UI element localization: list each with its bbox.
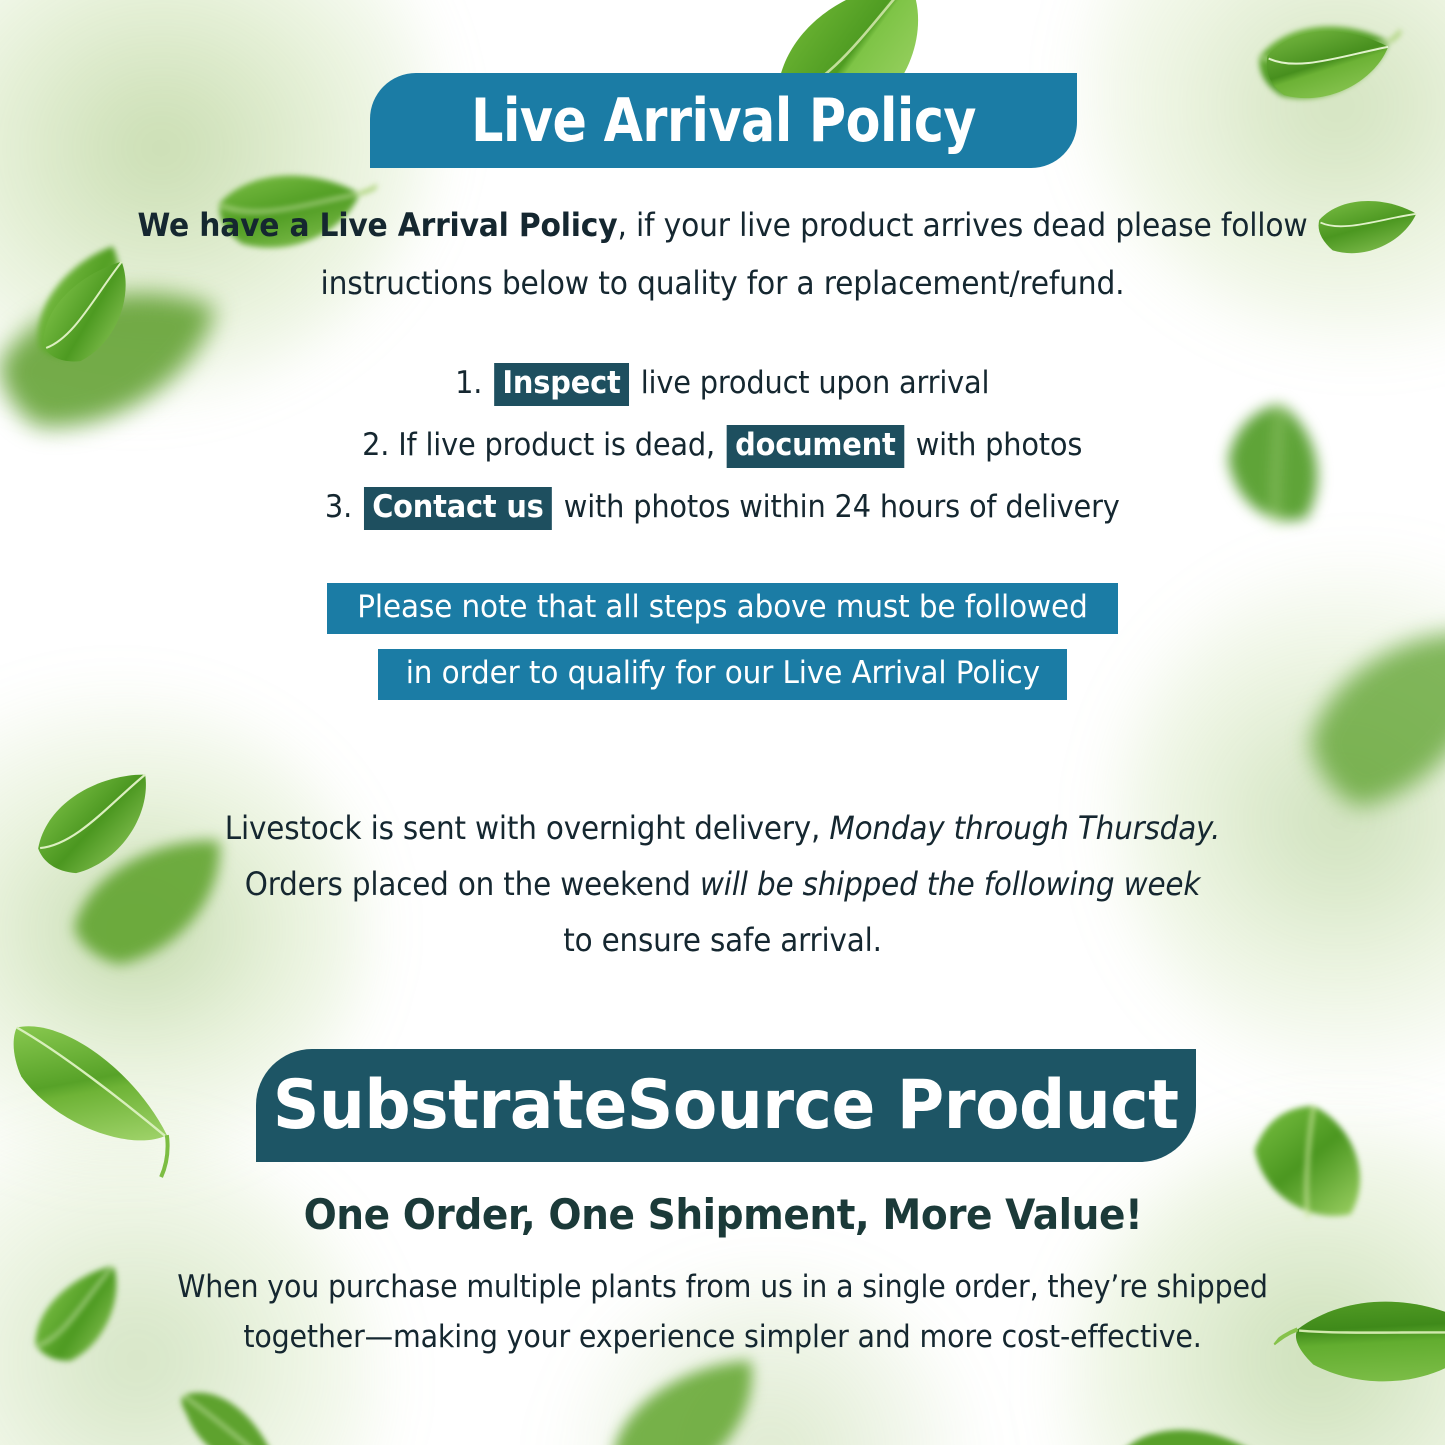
step-2-number: 2. (362, 427, 389, 463)
note-line-1-text: Please note that all steps above must be… (357, 587, 1087, 628)
shipping-line-1: Livestock is sent with overnight deliver… (58, 800, 1387, 856)
live-arrival-intro-paragraph: We have a Live Arrival Policy, if your l… (0, 196, 1445, 312)
closing-line-2: together—making your experience simpler … (58, 1312, 1387, 1362)
step-3-number: 3. (325, 489, 352, 525)
substrate-source-tagline-text: One Order, One Shipment, More Value! (303, 1190, 1142, 1239)
list-item: 1. Inspect live product upon arrival (0, 352, 1445, 414)
intro-line-1-bold: We have a Live Arrival Policy (137, 206, 617, 244)
step-1-number: 1. (455, 365, 482, 401)
live-arrival-policy-banner: Live Arrival Policy (370, 73, 1077, 168)
substrate-source-body-paragraph: When you purchase multiple plants from u… (0, 1262, 1445, 1362)
shipping-line-2-a: Orders placed on the weekend (245, 865, 700, 903)
policy-note-block: Please note that all steps above must be… (0, 583, 1445, 715)
list-item: 2. If live product is dead, document wit… (0, 414, 1445, 476)
livestock-shipping-paragraph: Livestock is sent with overnight deliver… (0, 800, 1445, 968)
step-1-text: live product upon arrival (641, 365, 990, 401)
shipping-line-1-a: Livestock is sent with overnight deliver… (225, 809, 830, 847)
step-1-chip-inspect[interactable]: Inspect (494, 363, 629, 406)
step-3-chip-contact-us[interactable]: Contact us (364, 487, 552, 530)
policy-infographic: Live Arrival Policy We have a Live Arriv… (0, 0, 1445, 1445)
live-arrival-steps-list: 1. Inspect live product upon arrival 2. … (0, 352, 1445, 538)
note-line-2-text: in order to qualify for our Live Arrival… (405, 653, 1039, 694)
note-line-1: Please note that all steps above must be… (327, 583, 1118, 634)
step-2-text: with photos (916, 427, 1082, 463)
step-2-pre: If live product is dead, (399, 427, 716, 463)
shipping-line-2: Orders placed on the weekend will be shi… (58, 856, 1387, 912)
shipping-line-3: to ensure safe arrival. (58, 912, 1387, 968)
note-line-2: in order to qualify for our Live Arrival… (378, 649, 1068, 700)
intro-line-1-rest: , if your live product arrives dead plea… (617, 206, 1307, 244)
live-arrival-policy-title: Live Arrival Policy (471, 91, 976, 151)
step-3-text: with photos within 24 hours of delivery (564, 489, 1120, 525)
intro-line-2: instructions below to quality for a repl… (51, 254, 1395, 312)
list-item: 3. Contact us with photos within 24 hour… (0, 476, 1445, 538)
closing-line-1: When you purchase multiple plants from u… (58, 1262, 1387, 1312)
shipping-line-2-italic: will be shipped the following week (700, 865, 1200, 903)
note-row-2: in order to qualify for our Live Arrival… (0, 649, 1445, 700)
step-2-chip-document[interactable]: document (727, 425, 904, 468)
shipping-line-1-italic: Monday through Thursday. (829, 809, 1220, 847)
note-row-1: Please note that all steps above must be… (0, 583, 1445, 634)
intro-line-1: We have a Live Arrival Policy, if your l… (51, 196, 1395, 254)
substrate-source-product-title: SubstrateSource Product (273, 1072, 1179, 1140)
substrate-source-tagline: One Order, One Shipment, More Value! (0, 1190, 1445, 1239)
substrate-source-product-banner: SubstrateSource Product (256, 1049, 1196, 1162)
